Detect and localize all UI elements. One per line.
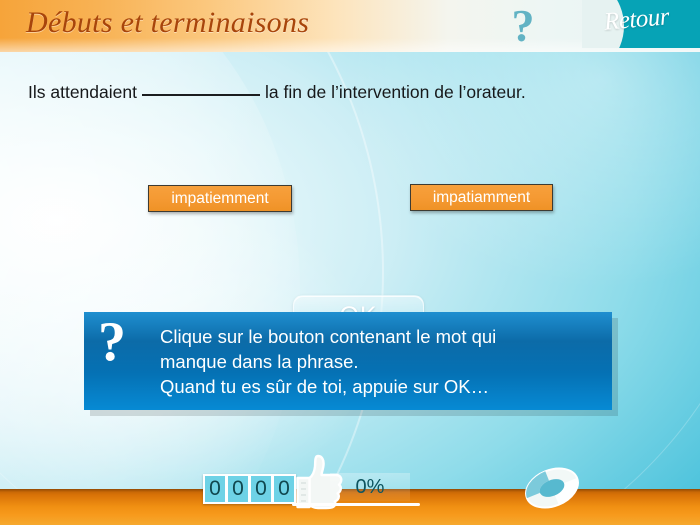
activity-screen: Débuts et terminaisons ? Retour Ils atte…	[0, 0, 700, 525]
header-bar: Débuts et terminaisons ? Retour	[0, 0, 700, 52]
page-title: Débuts et terminaisons	[26, 6, 309, 40]
instruction-line-3: Quand tu es sûr de toi, appuie sur OK…	[160, 374, 602, 399]
counter-digit: 0	[205, 476, 225, 502]
score-percent-plate: 0%	[330, 473, 410, 501]
score-underline	[292, 503, 420, 506]
question-mark-icon: ?	[84, 312, 160, 370]
instruction-text: Clique sur le bouton contenant le mot qu…	[160, 312, 612, 399]
sentence-after: la fin de l’intervention de l’orateur.	[265, 82, 526, 102]
question-mark-icon[interactable]: ?	[500, 0, 546, 51]
instruction-line-1: Clique sur le bouton contenant le mot qu…	[160, 324, 602, 349]
sentence-before: Ils attendaient	[28, 82, 137, 102]
counter-digit: 0	[251, 476, 271, 502]
back-button-label: Retour	[603, 3, 670, 37]
score-percent: 0%	[356, 476, 385, 499]
exercise-sentence: Ils attendaientla fin de l’intervention …	[28, 82, 526, 103]
answer-button-impatiamment[interactable]: impatiamment	[410, 184, 553, 211]
instruction-tooltip: ? Clique sur le bouton contenant le mot …	[84, 312, 612, 410]
answer-button-impatiemment[interactable]: impatiemment	[148, 185, 292, 212]
counter-digit: 0	[274, 476, 294, 502]
instruction-line-2: manque dans la phrase.	[160, 349, 602, 374]
life-ring-logo-icon[interactable]	[522, 462, 582, 514]
sentence-blank	[142, 94, 260, 96]
back-button[interactable]: Retour	[582, 0, 700, 48]
counter-digit: 0	[228, 476, 248, 502]
score-counter: 0 0 0 0	[203, 474, 296, 504]
